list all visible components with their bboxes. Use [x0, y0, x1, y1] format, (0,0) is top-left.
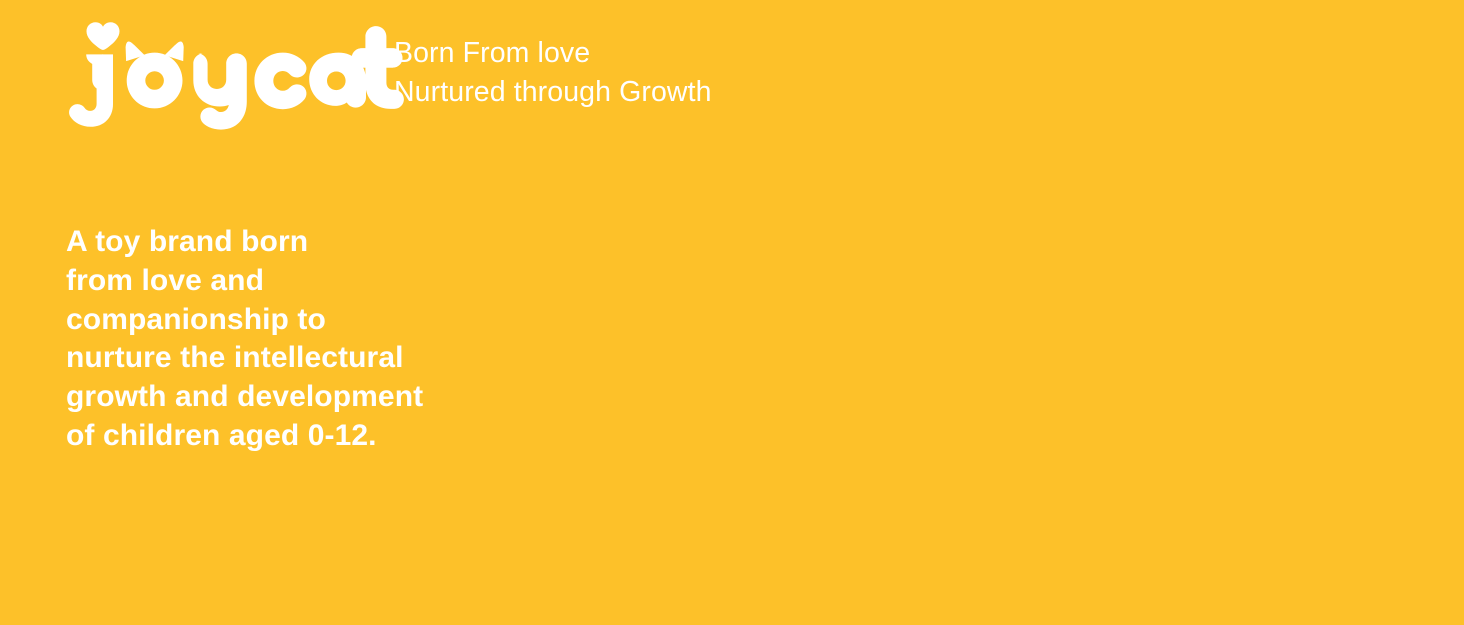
paragraph-line-2: from love and — [66, 262, 536, 301]
joycat-wordmark-icon — [66, 18, 382, 130]
paragraph-line-1: A toy brand born — [66, 223, 536, 262]
brand-lockup: Born From love Nurtured through Growth — [66, 18, 712, 130]
letter-y — [193, 53, 247, 129]
paragraph-line-5: growth and development — [66, 378, 536, 417]
brand-description-paragraph: A toy brand born from love and companion… — [66, 223, 536, 456]
joycat-logo — [66, 18, 382, 130]
heart-dot-icon — [87, 22, 120, 50]
brand-hero-panel: Born From love Nurtured through Growth A… — [0, 0, 1464, 625]
letter-j-stem — [92, 54, 113, 90]
paragraph-line-3: companionship to — [66, 301, 536, 340]
tagline-line-1: Born From love — [394, 34, 712, 73]
letter-c — [254, 53, 306, 110]
brand-tagline: Born From love Nurtured through Growth — [394, 18, 712, 111]
paragraph-line-4: nurture the intellectural — [66, 339, 536, 378]
letter-o — [127, 53, 183, 109]
paragraph-line-6: of children aged 0-12. — [66, 417, 536, 456]
tagline-line-2: Nurtured through Growth — [394, 73, 712, 112]
